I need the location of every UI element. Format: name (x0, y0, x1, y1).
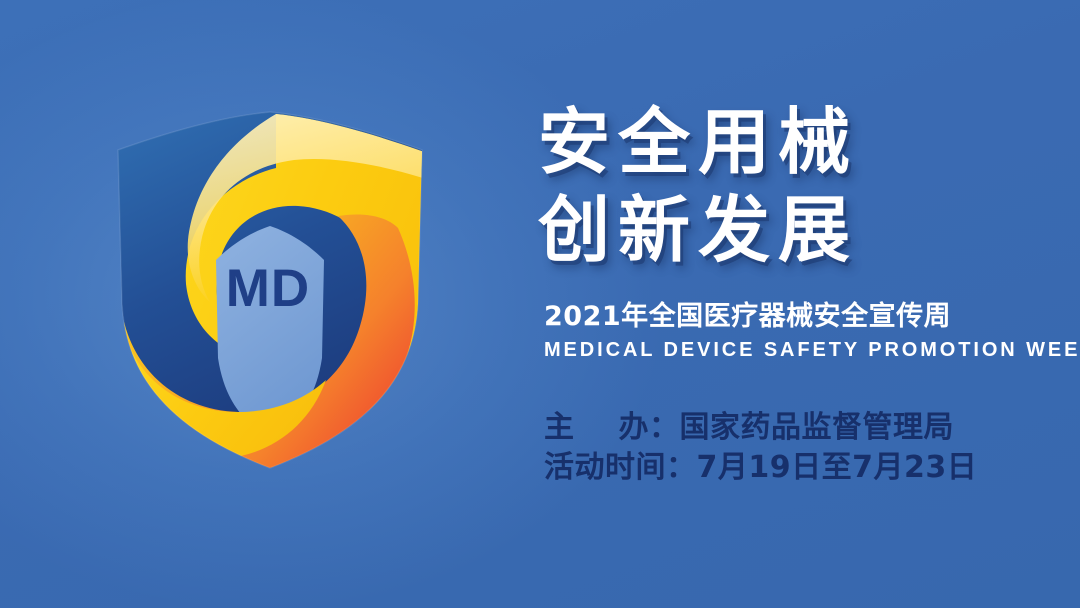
date-value: 7月19日至7月23日 (697, 450, 978, 485)
medical-device-safety-shield-logo: MD (98, 108, 438, 472)
subtitle-chinese: 2021年全国医疗器械安全宣传周 (544, 300, 951, 334)
content-column: 安全用械 创新发展 2021年全国医疗器械安全宣传周 MEDICAL DEVIC… (536, 0, 1006, 608)
date-label: 活动时间： (544, 450, 697, 485)
organizer-value: 国家药品监督管理局 (680, 410, 955, 445)
date-line: 活动时间：7月19日至7月23日 (544, 448, 977, 488)
organizer-line: 主办：国家药品监督管理局 (544, 408, 977, 448)
organizer-label: 主 (544, 410, 575, 445)
headline-line-2: 创新发展 (538, 186, 966, 274)
footer-info: 主办：国家药品监督管理局 活动时间：7月19日至7月23日 (544, 408, 977, 488)
organizer-label-suffix: 办： (619, 410, 680, 445)
poster-canvas: MD 安全用械 创新发展 2021年全国医疗器械安全宣传周 MEDICAL DE… (0, 0, 1080, 608)
shield-body (117, 112, 424, 470)
headline: 安全用械 创新发展 (538, 98, 966, 274)
headline-line-1: 安全用械 (538, 98, 966, 186)
subtitle-english: MEDICAL DEVICE SAFETY PROMOTION WEEK (544, 337, 1080, 363)
